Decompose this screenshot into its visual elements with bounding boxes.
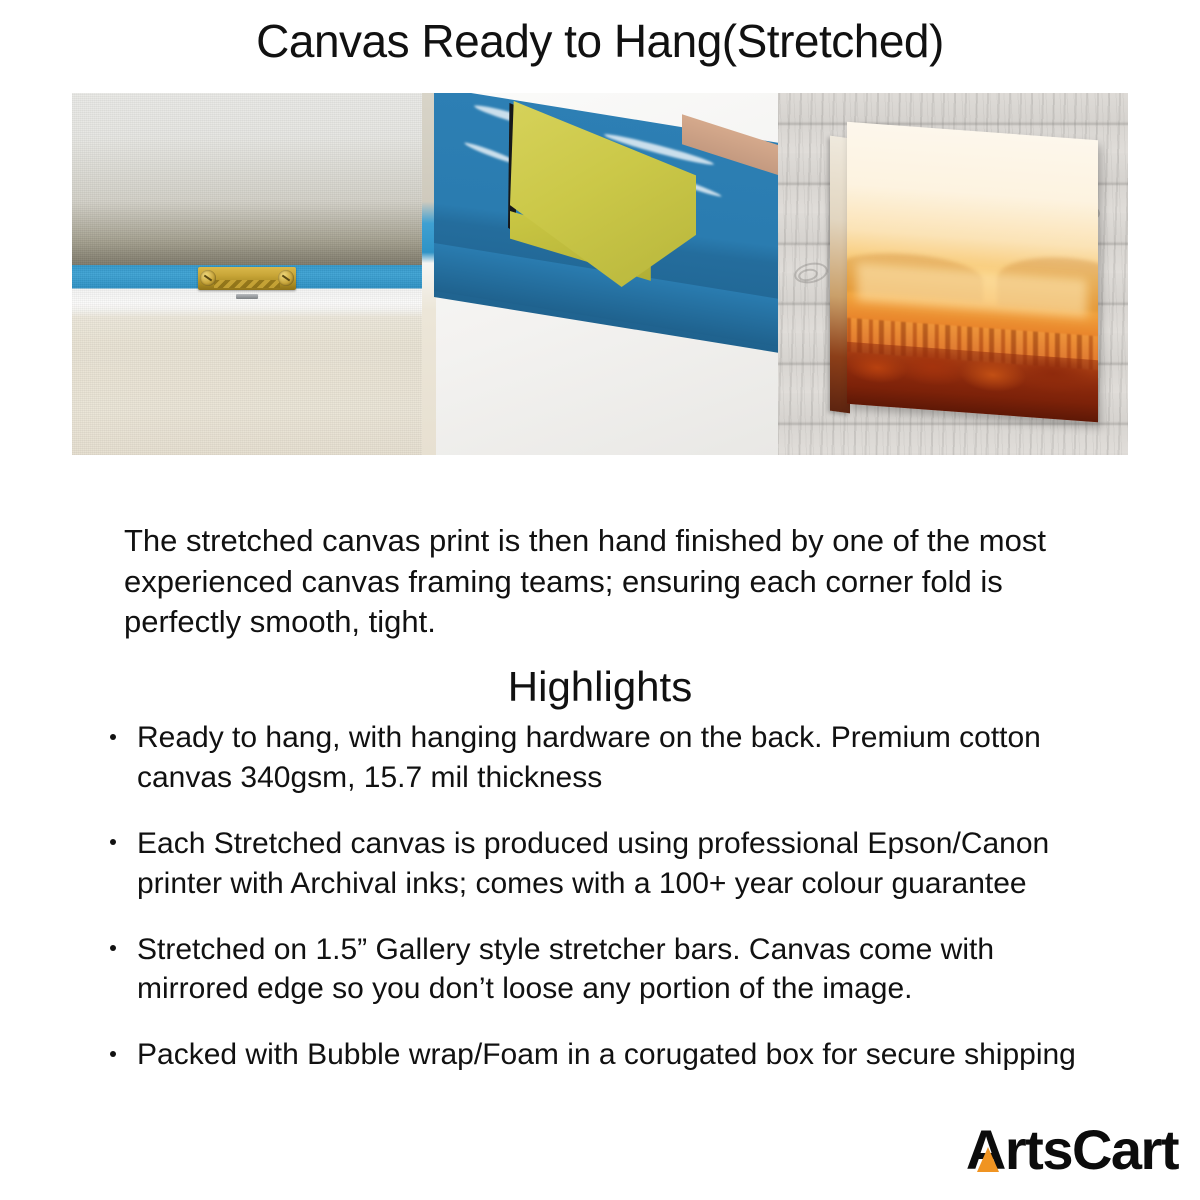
intro-paragraph: The stretched canvas print is then hand … bbox=[124, 521, 1076, 643]
list-item-text: Stretched on 1.5” Gallery style stretche… bbox=[137, 933, 994, 1006]
canvas-back-hanger-image bbox=[72, 93, 422, 455]
list-item-text: Packed with Bubble wrap/Foam in a coruga… bbox=[137, 1038, 1076, 1071]
list-item: Ready to hang, with hanging hardware on … bbox=[104, 718, 1114, 798]
brand-logo: ArtsCart bbox=[966, 1122, 1178, 1178]
page-title: Canvas Ready to Hang(Stretched) bbox=[0, 0, 1200, 64]
bullet-dot-icon bbox=[110, 945, 116, 951]
bullet-dot-icon bbox=[110, 839, 116, 845]
logo-wordmark: rtsCart bbox=[1005, 1118, 1178, 1181]
sawtooth-hanger-icon bbox=[198, 267, 296, 290]
list-item: Packed with Bubble wrap/Foam in a coruga… bbox=[104, 1035, 1114, 1075]
bullet-dot-icon bbox=[110, 1051, 116, 1057]
highlights-list: Ready to hang, with hanging hardware on … bbox=[104, 718, 1114, 1101]
hung-canvas bbox=[830, 131, 1098, 421]
list-item-text: Each Stretched canvas is produced using … bbox=[137, 827, 1049, 900]
orange-triangle-icon bbox=[977, 1147, 999, 1172]
logo-letter-a: A bbox=[966, 1122, 1005, 1178]
list-item-text: Ready to hang, with hanging hardware on … bbox=[137, 721, 1041, 794]
staple-icon bbox=[236, 294, 258, 299]
highlights-heading: Highlights bbox=[0, 663, 1200, 711]
canvas-print-face bbox=[847, 122, 1098, 422]
list-item: Each Stretched canvas is produced using … bbox=[104, 824, 1114, 904]
screw-left-icon bbox=[200, 270, 216, 286]
list-item: Stretched on 1.5” Gallery style stretche… bbox=[104, 930, 1114, 1010]
bullet-dot-icon bbox=[110, 734, 116, 740]
canvas-on-wall-image bbox=[778, 93, 1128, 455]
screw-right-icon bbox=[278, 270, 294, 286]
product-gallery bbox=[72, 93, 1128, 455]
corner-fold-detail-image bbox=[422, 93, 778, 455]
